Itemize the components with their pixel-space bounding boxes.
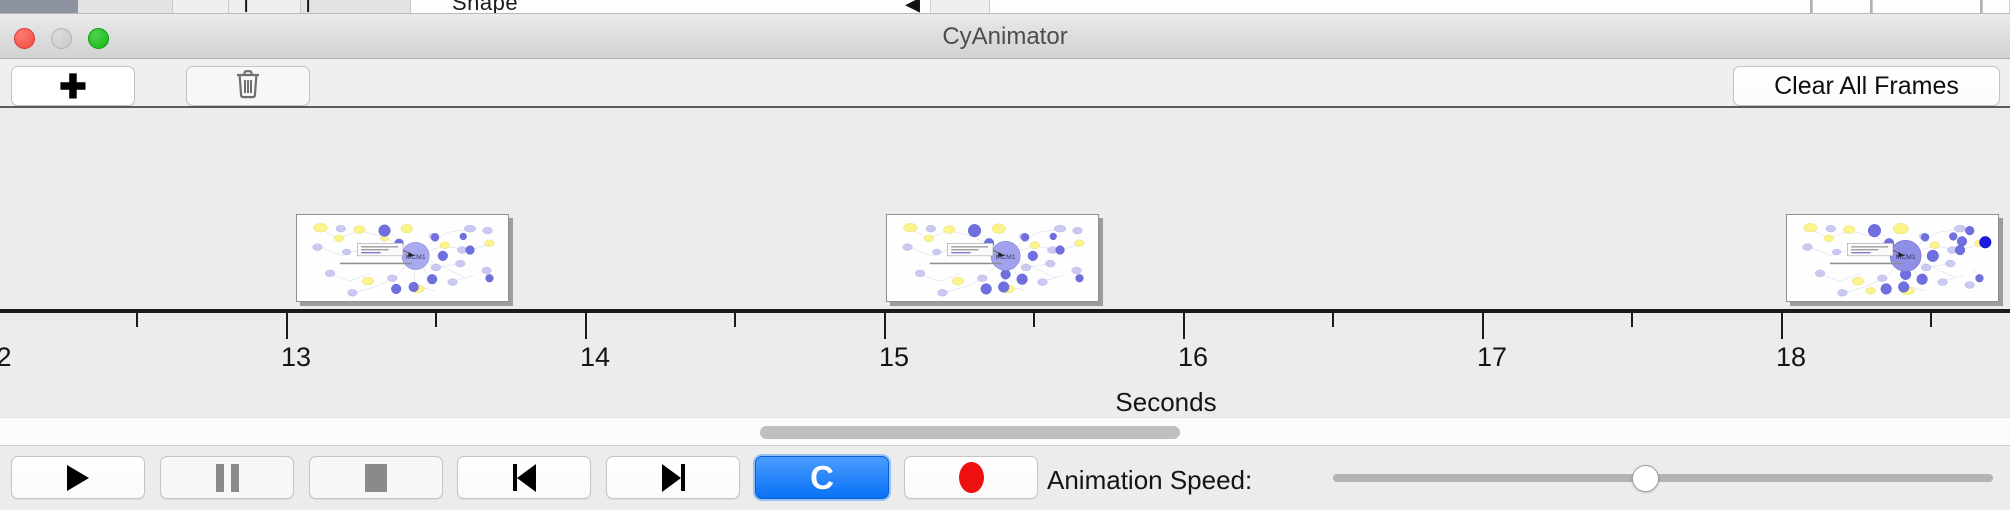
axis-label: 2 <box>0 342 12 373</box>
play-button[interactable] <box>11 456 145 499</box>
background-segment <box>301 0 411 14</box>
background-segment <box>78 0 173 14</box>
add-frame-button[interactable]: ✚ <box>11 66 135 106</box>
horizontal-scrollbar-track[interactable] <box>0 417 2010 445</box>
axis-tick-major <box>585 313 587 339</box>
axis-tick-minor <box>734 313 736 327</box>
clear-all-frames-button[interactable]: Clear All Frames <box>1733 66 2000 106</box>
axis-label: 14 <box>580 342 610 373</box>
horizontal-scrollbar-thumb[interactable] <box>760 426 1180 439</box>
network-graph-preview: MCM1 <box>299 217 506 302</box>
background-segment <box>990 0 2010 14</box>
thumbnail-canvas-2: MCM1 <box>889 217 1096 299</box>
animation-speed-slider[interactable] <box>1333 474 1993 482</box>
axis-tick-minor <box>435 313 437 327</box>
axis-tick-major <box>286 313 288 339</box>
title-bar[interactable]: CyAnimator <box>0 14 2010 59</box>
play-icon <box>67 465 89 491</box>
loop-icon: C <box>810 461 834 494</box>
animation-speed-label: Animation Speed: <box>1047 465 1252 496</box>
previous-frame-button[interactable] <box>457 456 591 499</box>
clear-all-frames-label: Clear All Frames <box>1774 72 1959 101</box>
stop-button[interactable] <box>309 456 443 499</box>
pause-icon <box>216 464 239 492</box>
background-divider <box>1980 0 1983 14</box>
axis-tick-minor <box>1631 313 1633 327</box>
axis-label: 18 <box>1776 342 1806 373</box>
network-graph-preview: MCM1 <box>889 217 1096 302</box>
timeline-panel[interactable]: MCM1 <box>0 110 2010 417</box>
background-segment <box>931 0 990 14</box>
axis-tick-major <box>884 313 886 339</box>
plus-icon: ✚ <box>59 70 87 103</box>
cyanimator-window: | | Shape ◂ CyAnimator ✚ <box>0 0 2010 510</box>
axis-line <box>0 309 2010 313</box>
pause-button[interactable] <box>160 456 294 499</box>
thumbnail-canvas-3: MCM1 <box>1789 217 1996 299</box>
background-segment <box>229 0 301 14</box>
skip-next-icon <box>662 464 685 492</box>
record-button[interactable] <box>904 456 1038 499</box>
animation-speed-slider-knob[interactable] <box>1632 465 1659 492</box>
axis-tick-minor <box>1332 313 1334 327</box>
toolbar: ✚ Clear All Frames <box>0 59 2010 108</box>
skip-previous-icon <box>513 464 536 492</box>
timeline-axis: 2 13 14 15 16 17 18 Seconds <box>0 309 2010 417</box>
axis-tick-major <box>1183 313 1185 339</box>
background-divider <box>1810 0 1813 14</box>
axis-label: 15 <box>879 342 909 373</box>
axis-tick-minor <box>136 313 138 327</box>
axis-tick-minor <box>1033 313 1035 327</box>
frame-thumbnail-1[interactable]: MCM1 <box>296 214 509 302</box>
axis-tick-major <box>1482 313 1484 339</box>
delete-frame-button[interactable] <box>186 66 310 106</box>
frame-thumbnail-3[interactable]: MCM1 <box>1786 214 1999 302</box>
window-title: CyAnimator <box>0 23 2010 51</box>
axis-title: Seconds <box>1115 387 1216 418</box>
record-icon <box>959 462 984 493</box>
background-segment <box>173 0 229 14</box>
thumbnail-canvas-1: MCM1 <box>299 217 506 299</box>
axis-tick-major <box>1781 313 1783 339</box>
frame-thumbnail-2[interactable]: MCM1 <box>886 214 1099 302</box>
background-tab <box>0 0 78 14</box>
axis-label: 16 <box>1178 342 1208 373</box>
network-graph-preview: MCM1 <box>1789 217 1996 302</box>
stop-icon <box>365 464 387 492</box>
playback-toolbar: C Animation Speed: <box>0 445 2010 510</box>
axis-label: 17 <box>1477 342 1507 373</box>
background-divider <box>1870 0 1873 14</box>
axis-tick-minor <box>1930 313 1932 327</box>
next-frame-button[interactable] <box>606 456 740 499</box>
axis-label: 13 <box>281 342 311 373</box>
background-shape-label: Shape <box>452 0 518 14</box>
trash-icon <box>234 68 262 105</box>
loop-button[interactable]: C <box>755 456 889 499</box>
background-window-strip: | | Shape ◂ <box>0 0 2010 14</box>
